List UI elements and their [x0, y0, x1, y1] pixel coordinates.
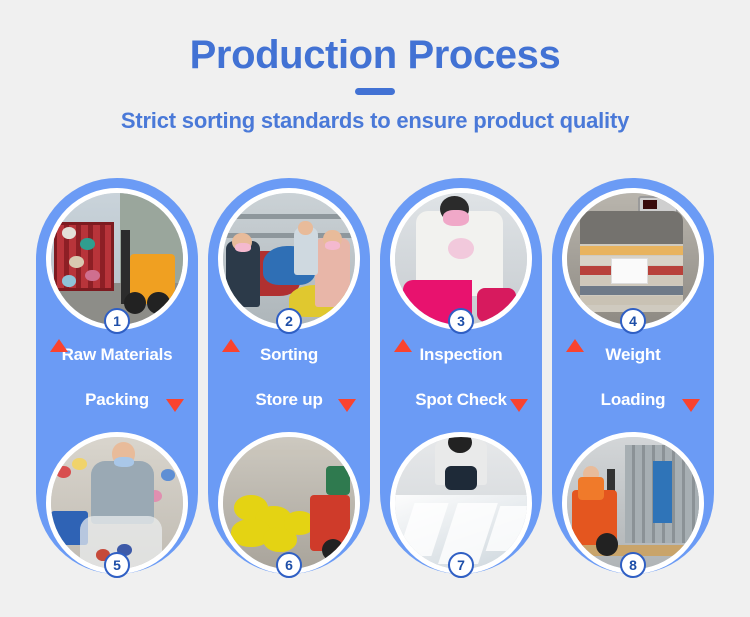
step-label: Packing: [85, 390, 149, 410]
step-label-row-6: Store up: [208, 377, 370, 422]
forklift-loading-icon: [567, 437, 699, 569]
step-label-row-7: Spot Check: [380, 377, 542, 422]
step-label-row-8: Loading: [552, 377, 714, 422]
process-step-8[interactable]: 8: [562, 432, 704, 574]
process-column-2: 2 Sorting Store up: [208, 178, 370, 574]
step-badge: 4: [620, 308, 646, 334]
process-step-4[interactable]: 4: [562, 188, 704, 330]
spot-check-icon: [395, 437, 527, 569]
process-step-3[interactable]: 3: [390, 188, 532, 330]
step-badge: 1: [104, 308, 130, 334]
worker-packing-icon: [51, 437, 183, 569]
step-label-row-4: Weight: [552, 332, 714, 377]
step-label: Store up: [255, 390, 322, 410]
arrow-up-icon: [50, 339, 68, 352]
step-label: Loading: [601, 390, 666, 410]
step-badge: 6: [276, 552, 302, 578]
step-badge: 8: [620, 552, 646, 578]
step-label-row-5: Packing: [36, 377, 198, 422]
step-badge: 3: [448, 308, 474, 334]
arrow-down-icon: [510, 399, 528, 412]
arrow-down-icon: [682, 399, 700, 412]
step-label-row-3: Inspection: [380, 332, 542, 377]
process-step-1[interactable]: 1: [46, 188, 188, 330]
step-badge: 5: [104, 552, 130, 578]
process-step-2[interactable]: 2: [218, 188, 360, 330]
process-column-4: 4 Weight Loading: [552, 178, 714, 574]
process-step-6[interactable]: 6: [218, 432, 360, 574]
weighing-scale-icon: [567, 193, 699, 325]
process-step-5[interactable]: 5: [46, 432, 188, 574]
page-subtitle: Strict sorting standards to ensure produ…: [0, 108, 750, 134]
step-label-row-1: Raw Materials: [36, 332, 198, 377]
arrow-down-icon: [338, 399, 356, 412]
title-divider: [355, 88, 395, 95]
arrow-up-icon: [566, 339, 584, 352]
step-label: Inspection: [419, 345, 502, 365]
inspector-icon: [395, 193, 527, 325]
step-label-row-2: Sorting: [208, 332, 370, 377]
step-badge: 7: [448, 552, 474, 578]
workers-sorting-icon: [223, 193, 355, 325]
step-label: Weight: [605, 345, 660, 365]
step-label: Raw Materials: [62, 345, 173, 365]
process-column-3: 3 Inspection Spot Check: [380, 178, 542, 574]
page-title: Production Process: [0, 34, 750, 76]
step-label: Sorting: [260, 345, 318, 365]
truck-unloading-icon: [51, 193, 183, 325]
step-badge: 2: [276, 308, 302, 334]
warehouse-sacks-icon: [223, 437, 355, 569]
process-grid: 1 Raw Materials Packing: [0, 178, 750, 578]
arrow-down-icon: [166, 399, 184, 412]
step-label: Spot Check: [415, 390, 507, 410]
process-step-7[interactable]: 7: [390, 432, 532, 574]
arrow-up-icon: [394, 339, 412, 352]
process-column-1: 1 Raw Materials Packing: [36, 178, 198, 574]
page-header: Production Process Strict sorting standa…: [0, 0, 750, 134]
arrow-up-icon: [222, 339, 240, 352]
